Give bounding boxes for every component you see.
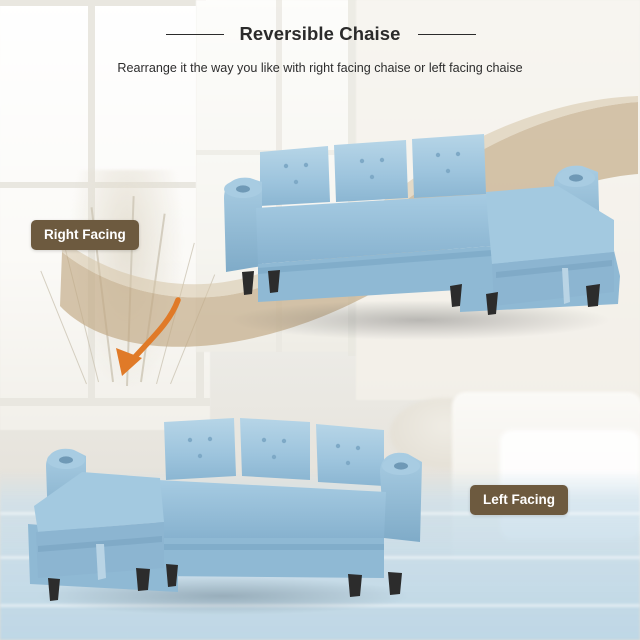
page-title: Reversible Chaise <box>0 22 640 46</box>
right-armrest <box>380 453 422 542</box>
curved-down-arrow-icon <box>104 296 190 388</box>
header: Reversible Chaise Rearrange it the way y… <box>0 22 640 76</box>
label-right-facing: Right Facing <box>31 220 139 250</box>
back-cushions <box>164 418 384 486</box>
title-divider-right <box>418 34 476 35</box>
label-left-facing: Left Facing <box>470 485 568 515</box>
sectional-sofa-right-facing <box>210 116 630 346</box>
seat-section <box>156 480 386 578</box>
left-armrest <box>224 178 262 272</box>
label-left-facing-text: Left Facing <box>483 492 555 507</box>
sectional-sofa-left-facing <box>18 396 438 621</box>
product-infographic: Reversible Chaise Rearrange it the way y… <box>0 0 640 640</box>
back-cushions <box>260 134 486 206</box>
page-subtitle: Rearrange it the way you like with right… <box>0 60 640 76</box>
title-divider-left <box>166 34 224 35</box>
label-right-facing-text: Right Facing <box>44 227 126 242</box>
window-frame-top <box>0 0 206 6</box>
